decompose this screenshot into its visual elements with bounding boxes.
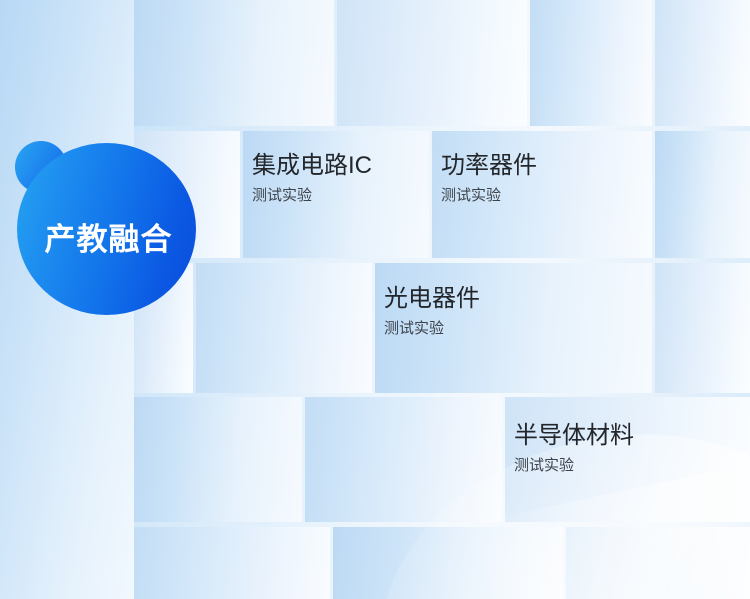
background-tile: [530, 0, 652, 126]
category-title: 半导体材料: [514, 422, 634, 450]
background-tile: [655, 0, 750, 126]
background-tile: [655, 263, 750, 393]
background-tile: [196, 263, 372, 393]
category-label: 半导体材料测试实验: [514, 422, 634, 476]
category-label: 集成电路IC测试实验: [252, 152, 372, 206]
category-title: 集成电路IC: [252, 152, 372, 180]
background-tile: [305, 397, 502, 522]
background-tile: [337, 0, 527, 126]
background-tile: [134, 0, 334, 126]
badge: 产教融合: [0, 130, 215, 295]
category-title: 光电器件: [384, 285, 480, 313]
promo-banner: 产教融合 集成电路IC测试实验功率器件测试实验光电器件测试实验半导体材料测试实验: [0, 0, 750, 599]
category-title: 功率器件: [441, 152, 537, 180]
category-subtitle: 测试实验: [384, 319, 480, 339]
category-label: 功率器件测试实验: [441, 152, 537, 206]
background-tile: [134, 527, 330, 599]
category-subtitle: 测试实验: [441, 186, 537, 206]
background-tile: [566, 527, 750, 599]
category-subtitle: 测试实验: [514, 456, 634, 476]
badge-circle: 产教融合: [17, 143, 196, 315]
background-tile: [134, 397, 302, 522]
category-subtitle: 测试实验: [252, 186, 372, 206]
category-label: 光电器件测试实验: [384, 285, 480, 339]
badge-label: 产教融合: [45, 224, 173, 255]
background-tile: [655, 131, 750, 258]
background-tile: [333, 527, 563, 599]
